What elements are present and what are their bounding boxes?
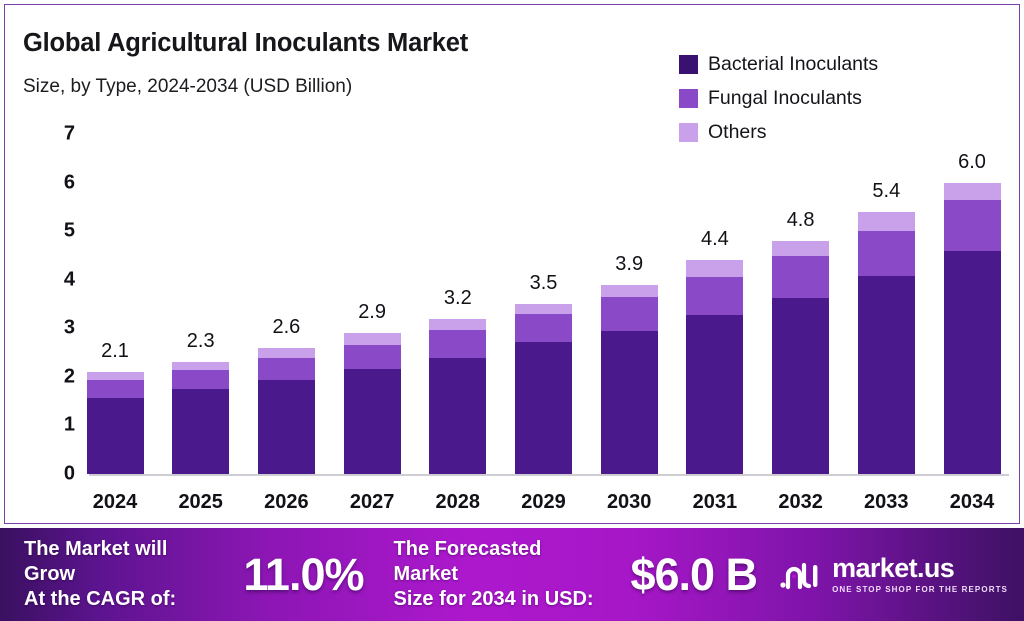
market-us-logo-icon bbox=[779, 558, 823, 592]
bar-segment-2032-bacterial bbox=[772, 298, 829, 474]
bar-2026[interactable] bbox=[258, 348, 315, 474]
bar-segment-2024-others bbox=[87, 372, 144, 380]
bar-value-label-2030: 3.9 bbox=[584, 253, 674, 276]
bar-segment-2030-fungal bbox=[601, 297, 658, 331]
bar-2024[interactable] bbox=[87, 372, 144, 474]
market-report-infographic: Global Agricultural Inoculants Market Si… bbox=[0, 0, 1024, 621]
cagr-value: 11.0% bbox=[243, 549, 363, 601]
logo-wordmark: market.us bbox=[832, 553, 954, 583]
bar-segment-2034-fungal bbox=[944, 200, 1001, 251]
bar-segment-2026-fungal bbox=[258, 358, 315, 380]
cagr-caption-line1: The Market will Grow bbox=[24, 537, 221, 587]
bar-value-label-2026: 2.6 bbox=[241, 316, 331, 339]
bar-segment-2029-others bbox=[515, 304, 572, 314]
bar-segment-2032-others bbox=[772, 241, 829, 257]
bar-value-label-2034: 6.0 bbox=[927, 151, 1017, 174]
x-axis-tick-2034: 2034 bbox=[917, 491, 1024, 514]
bar-segment-2033-fungal bbox=[858, 231, 915, 276]
x-axis-line bbox=[89, 474, 1009, 476]
bar-segment-2031-bacterial bbox=[686, 315, 743, 474]
bar-segment-2030-bacterial bbox=[601, 331, 658, 474]
bar-segment-2032-fungal bbox=[772, 256, 829, 298]
market-us-logo-text: market.us ONE STOP SHOP FOR THE REPORTS bbox=[832, 555, 1008, 594]
bar-segment-2027-others bbox=[344, 333, 401, 345]
bar-value-label-2024: 2.1 bbox=[70, 340, 160, 363]
y-axis-tick-5: 5 bbox=[35, 220, 75, 243]
bar-2028[interactable] bbox=[429, 319, 486, 474]
bar-value-label-2025: 2.3 bbox=[156, 330, 246, 353]
bar-segment-2026-bacterial bbox=[258, 380, 315, 474]
bar-segment-2026-others bbox=[258, 348, 315, 358]
y-axis-tick-6: 6 bbox=[35, 171, 75, 194]
cagr-caption-line2: At the CAGR of: bbox=[24, 587, 221, 612]
bar-value-label-2029: 3.5 bbox=[499, 272, 589, 295]
bar-2025[interactable] bbox=[172, 362, 229, 474]
bar-value-label-2032: 4.8 bbox=[756, 209, 846, 232]
cagr-caption: The Market will Grow At the CAGR of: bbox=[24, 537, 221, 612]
y-axis-tick-3: 3 bbox=[35, 317, 75, 340]
y-axis-tick-1: 1 bbox=[35, 414, 75, 437]
y-axis-tick-7: 7 bbox=[35, 123, 75, 146]
forecast-value: $6.0 B bbox=[630, 549, 757, 601]
bar-2030[interactable] bbox=[601, 285, 658, 474]
bar-segment-2028-fungal bbox=[429, 330, 486, 358]
bar-segment-2025-bacterial bbox=[172, 389, 229, 474]
bar-segment-2028-others bbox=[429, 319, 486, 330]
stacked-bar-chart: 012345672.120242.320252.620262.920273.22… bbox=[5, 5, 1021, 525]
bar-segment-2029-bacterial bbox=[515, 342, 572, 474]
chart-card: Global Agricultural Inoculants Market Si… bbox=[4, 4, 1020, 524]
bar-segment-2025-fungal bbox=[172, 370, 229, 389]
forecast-caption-line1: The Forecasted Market bbox=[394, 537, 609, 587]
bar-segment-2027-bacterial bbox=[344, 369, 401, 474]
forecast-caption-line2: Size for 2034 in USD: bbox=[394, 587, 609, 612]
bar-value-label-2027: 2.9 bbox=[327, 301, 417, 324]
bar-segment-2033-bacterial bbox=[858, 276, 915, 474]
bar-segment-2024-bacterial bbox=[87, 398, 144, 474]
y-axis-tick-0: 0 bbox=[35, 463, 75, 486]
bar-2027[interactable] bbox=[344, 333, 401, 474]
bar-value-label-2033: 5.4 bbox=[841, 180, 931, 203]
bar-segment-2034-bacterial bbox=[944, 251, 1001, 474]
bar-segment-2027-fungal bbox=[344, 345, 401, 369]
bar-segment-2028-bacterial bbox=[429, 358, 486, 474]
summary-banner: The Market will Grow At the CAGR of: 11.… bbox=[0, 528, 1024, 621]
bar-segment-2034-others bbox=[944, 183, 1001, 200]
bar-2031[interactable] bbox=[686, 260, 743, 474]
y-axis-tick-2: 2 bbox=[35, 365, 75, 388]
bar-segment-2033-others bbox=[858, 212, 915, 231]
bar-2034[interactable] bbox=[944, 183, 1001, 474]
bar-value-label-2031: 4.4 bbox=[670, 228, 760, 251]
bar-segment-2031-fungal bbox=[686, 277, 743, 315]
bar-2029[interactable] bbox=[515, 304, 572, 474]
bar-segment-2025-others bbox=[172, 362, 229, 370]
market-us-logo: market.us ONE STOP SHOP FOR THE REPORTS bbox=[779, 555, 1008, 594]
bar-2032[interactable] bbox=[772, 241, 829, 474]
bar-segment-2024-fungal bbox=[87, 380, 144, 398]
forecast-caption: The Forecasted Market Size for 2034 in U… bbox=[394, 537, 609, 612]
bar-value-label-2028: 3.2 bbox=[413, 287, 503, 310]
bar-segment-2031-others bbox=[686, 260, 743, 277]
logo-tagline: ONE STOP SHOP FOR THE REPORTS bbox=[832, 585, 1008, 594]
bar-2033[interactable] bbox=[858, 212, 915, 474]
y-axis-tick-4: 4 bbox=[35, 268, 75, 291]
bar-segment-2029-fungal bbox=[515, 314, 572, 342]
bar-segment-2030-others bbox=[601, 285, 658, 298]
